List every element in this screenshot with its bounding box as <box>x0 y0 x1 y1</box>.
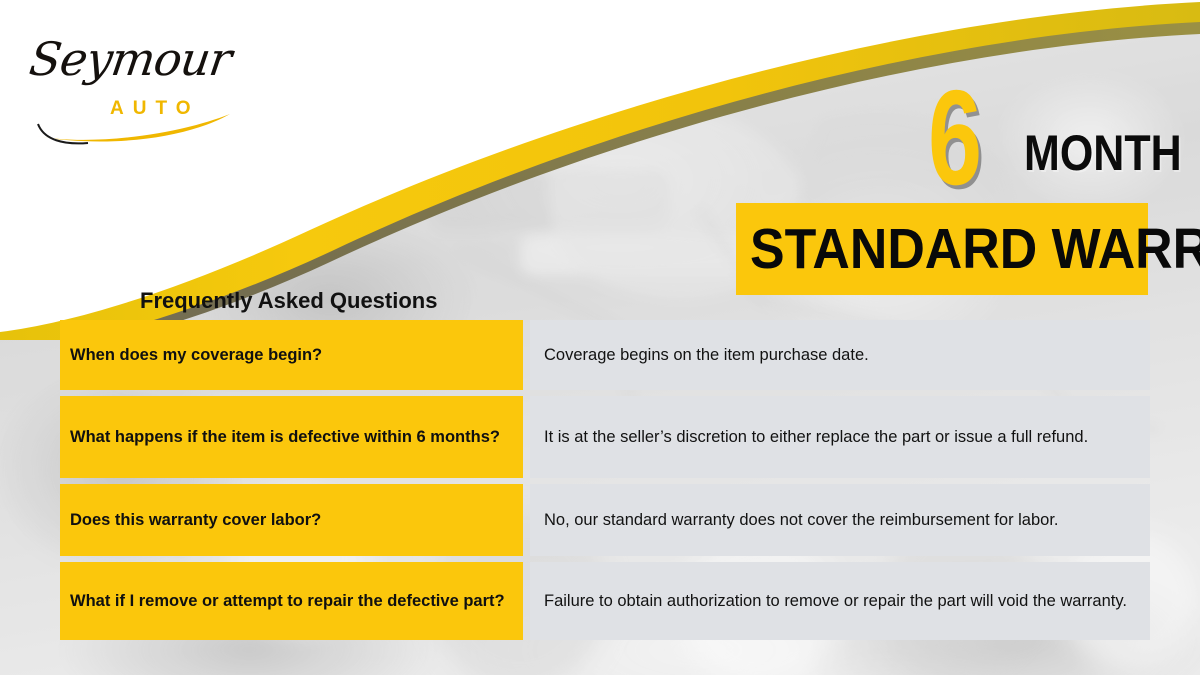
column-gap <box>523 484 530 556</box>
faq-question-text: Does this warranty cover labor? <box>70 510 321 531</box>
faq-answer-cell: Coverage begins on the item purchase dat… <box>530 320 1150 390</box>
faq-question-cell: What happens if the item is defective wi… <box>60 396 523 478</box>
faq-question-cell: When does my coverage begin? <box>60 320 523 390</box>
faq-question-text: What happens if the item is defective wi… <box>70 427 500 448</box>
table-row: What if I remove or attempt to repair th… <box>60 562 1150 640</box>
column-gap <box>523 562 530 640</box>
warranty-months-unit: MONTH <box>1024 128 1182 178</box>
faq-heading: Frequently Asked Questions <box>140 288 437 314</box>
faq-answer-text: Failure to obtain authorization to remov… <box>544 590 1127 612</box>
logo-auto-text: AUTO <box>110 98 199 120</box>
faq-answer-text: Coverage begins on the item purchase dat… <box>544 344 869 366</box>
column-gap <box>523 396 530 478</box>
faq-answer-cell: It is at the seller’s discretion to eith… <box>530 396 1150 478</box>
faq-table: When does my coverage begin? Coverage be… <box>60 320 1150 640</box>
faq-answer-cell: No, our standard warranty does not cover… <box>530 484 1150 556</box>
faq-answer-cell: Failure to obtain authorization to remov… <box>530 562 1150 640</box>
faq-question-text: When does my coverage begin? <box>70 345 322 366</box>
column-gap <box>523 320 530 390</box>
table-row: What happens if the item is defective wi… <box>60 396 1150 478</box>
faq-question-text: What if I remove or attempt to repair th… <box>70 591 505 612</box>
faq-answer-text: It is at the seller’s discretion to eith… <box>544 426 1088 448</box>
warranty-slide: Seymour AUTO 6 MONTH STANDARD WARRANTY F… <box>0 0 1200 675</box>
standard-warranty-text: STANDARD WARRANTY <box>750 221 1200 278</box>
table-row: When does my coverage begin? Coverage be… <box>60 320 1150 390</box>
standard-warranty-band: STANDARD WARRANTY <box>736 203 1148 295</box>
logo-script-text: Seymour <box>26 32 234 86</box>
faq-question-cell: Does this warranty cover labor? <box>60 484 523 556</box>
seymour-auto-logo: Seymour AUTO <box>24 22 254 132</box>
table-row: Does this warranty cover labor? No, our … <box>60 484 1150 556</box>
faq-question-cell: What if I remove or attempt to repair th… <box>60 562 523 640</box>
warranty-months-number: 6 <box>928 70 982 205</box>
faq-answer-text: No, our standard warranty does not cover… <box>544 509 1059 531</box>
